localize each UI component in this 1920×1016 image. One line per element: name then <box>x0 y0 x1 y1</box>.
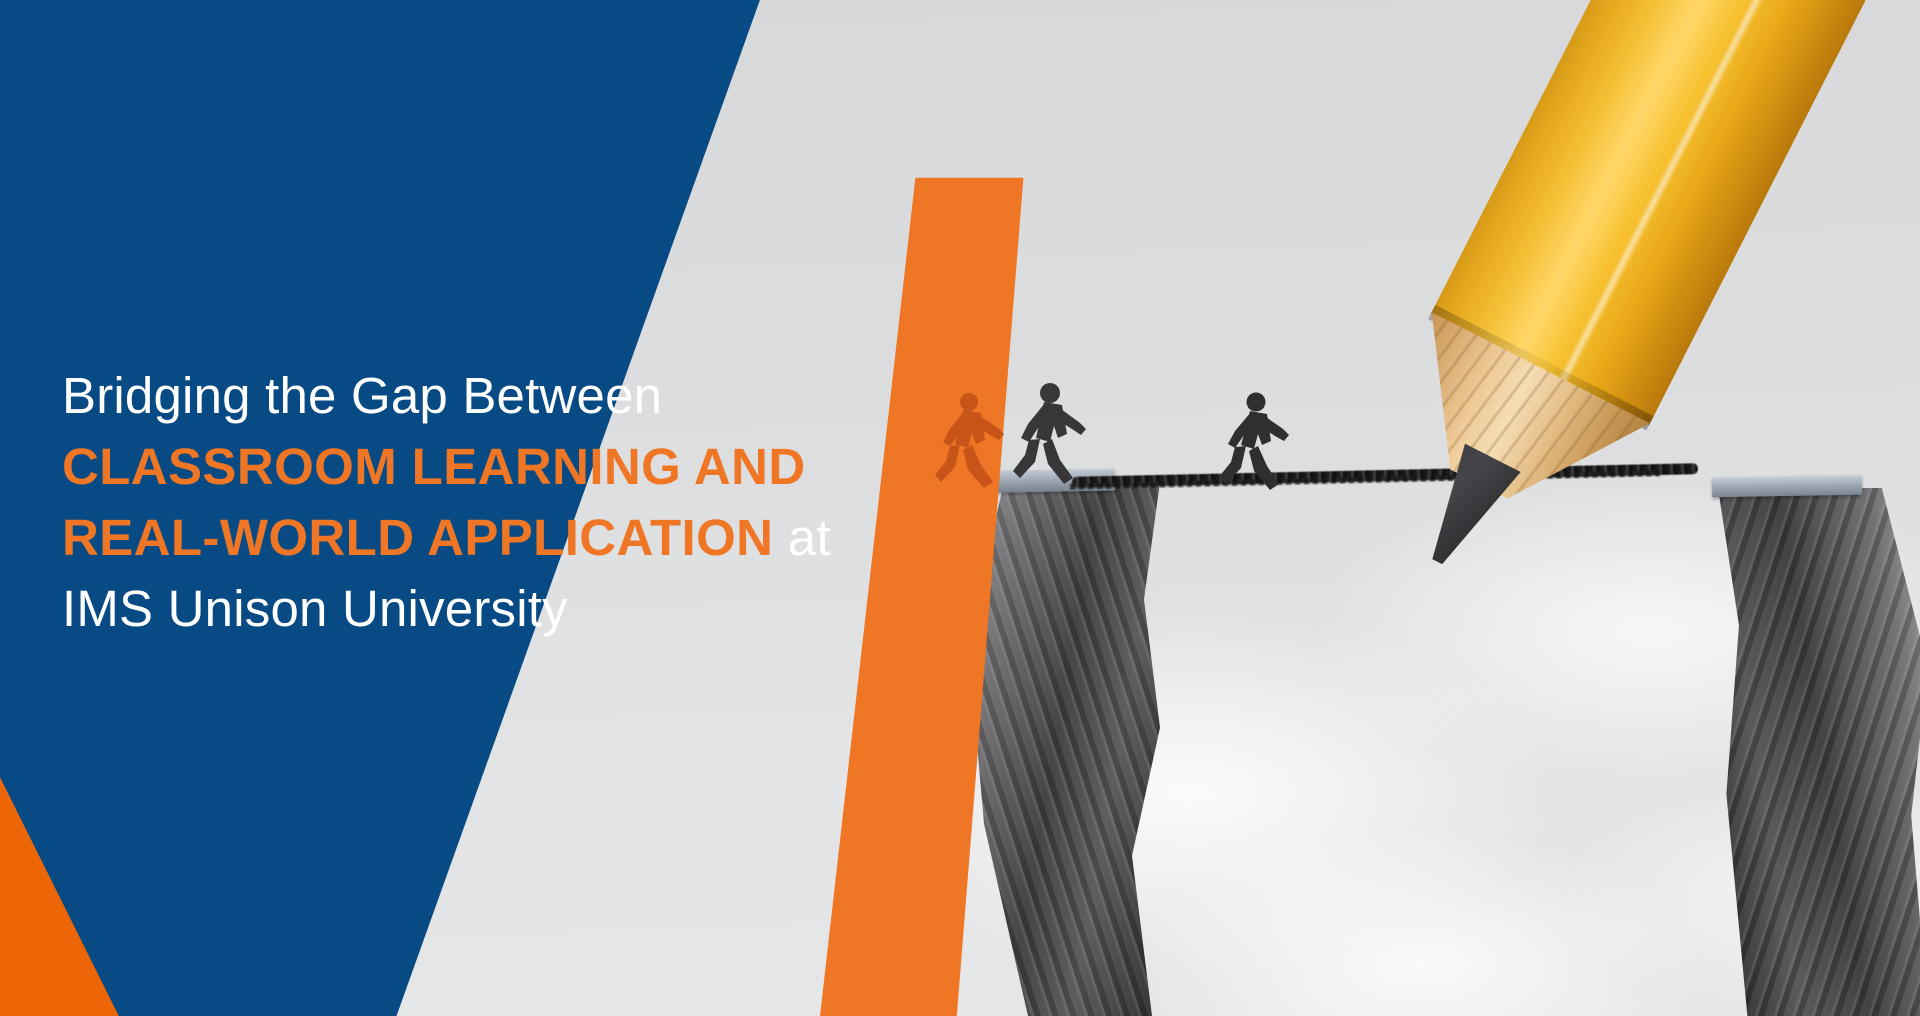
headline-block: Bridging the Gap Between CLASSROOM LEARN… <box>62 360 1002 644</box>
headline-line-2: CLASSROOM LEARNING AND <box>62 431 1002 502</box>
headline-line-4: IMS Unison University <box>62 573 1002 644</box>
headline-line-1: Bridging the Gap Between <box>62 360 1002 431</box>
headline-line-3-tail: at <box>773 509 830 566</box>
headline-line-3-strong: REAL-WORLD APPLICATION <box>62 509 773 566</box>
runner-one <box>1010 382 1088 486</box>
banner-root: Bridging the Gap Between CLASSROOM LEARN… <box>0 0 1920 1016</box>
runner-two <box>1215 392 1291 492</box>
headline-line-3: REAL-WORLD APPLICATION at <box>62 502 1002 573</box>
